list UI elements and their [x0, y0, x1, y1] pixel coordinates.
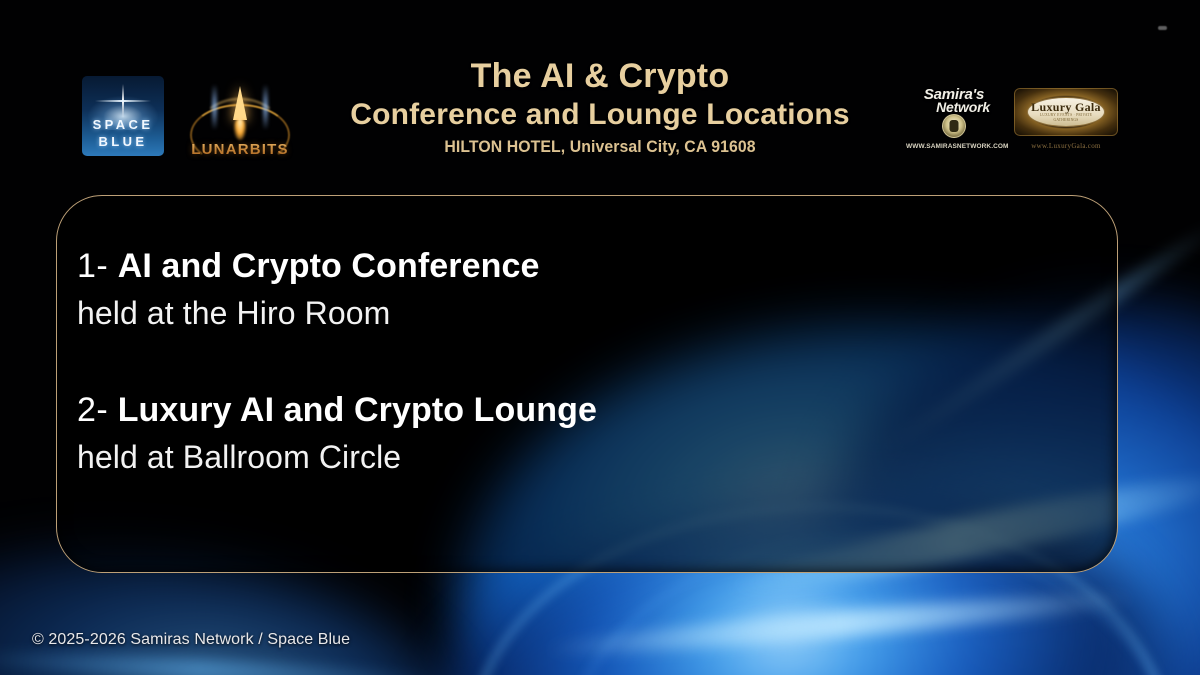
list-item: 1- AI and Crypto Conference held at the … [77, 242, 1093, 336]
light-streak-2 [540, 585, 1140, 663]
ornate-frame-icon: Luxury Gala LUXURY EVENTS · PRIVATE GATH… [1014, 88, 1118, 136]
samiras-network-wordmark: Samira's Network [906, 88, 1002, 114]
samiras-network-url: WWW.SAMIRASNETWORK.COM [906, 143, 1002, 150]
entry-event-name: AI and Crypto Conference [118, 247, 540, 285]
entry-heading: 1- AI and Crypto Conference [77, 242, 1093, 290]
luxury-gala-logo[interactable]: Luxury Gala LUXURY EVENTS · PRIVATE GATH… [1014, 88, 1118, 150]
luxury-gala-wordmark: Luxury Gala [1031, 101, 1101, 113]
entry-number: 1- [77, 247, 108, 285]
locations-list: 1- AI and Crypto Conference held at the … [77, 242, 1093, 480]
entry-location: held at the Hiro Room [77, 290, 1093, 336]
presentation-slide: SPACE BLUE LUNARBITS The AI & Crypto Con… [0, 0, 1200, 675]
luxury-gala-plaque: Luxury Gala LUXURY EVENTS · PRIVATE GATH… [1027, 97, 1105, 127]
luxury-gala-tagline: LUXURY EVENTS · PRIVATE GATHERINGS [1028, 113, 1104, 123]
entry-number: 2- [77, 391, 108, 429]
entry-event-name: Luxury AI and Crypto Lounge [118, 391, 597, 429]
light-streak-4 [0, 646, 440, 675]
samiras-network-logo[interactable]: Samira's Network WWW.SAMIRASNETWORK.COM [906, 88, 1002, 150]
entry-location: held at Ballroom Circle [77, 434, 1093, 480]
copyright-footer: © 2025-2026 Samiras Network / Space Blue [32, 631, 350, 649]
slide-header: SPACE BLUE LUNARBITS The AI & Crypto Con… [0, 0, 1200, 180]
luxury-gala-url: www.LuxuryGala.com [1014, 142, 1118, 150]
list-item: 2- Luxury AI and Crypto Lounge held at B… [77, 386, 1093, 480]
sponsor-logos-right: Samira's Network WWW.SAMIRASNETWORK.COM … [906, 88, 1118, 150]
locations-panel: 1- AI and Crypto Conference held at the … [56, 195, 1118, 573]
samiras-line2: Network [906, 101, 1002, 114]
entry-heading: 2- Luxury AI and Crypto Lounge [77, 386, 1093, 434]
seal-medallion-icon [942, 114, 966, 138]
